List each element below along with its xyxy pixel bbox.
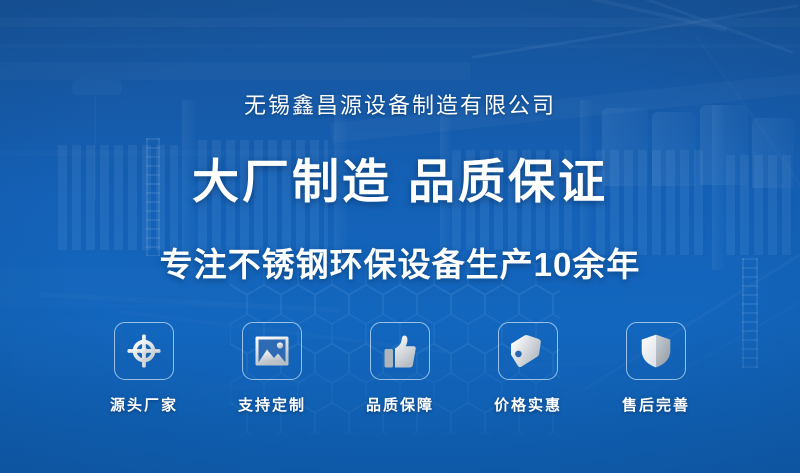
feature-label: 价格实惠	[494, 394, 562, 415]
icon-box	[370, 322, 430, 380]
shield-icon	[641, 334, 671, 368]
headline: 大厂制造 品质保证	[192, 143, 608, 212]
feature-item-after-sales[interactable]: 售后完善	[610, 322, 702, 415]
feature-item-source-factory[interactable]: 源头厂家	[98, 322, 190, 415]
feature-item-affordable-price[interactable]: 价格实惠	[482, 322, 574, 415]
icon-box	[498, 322, 558, 380]
feature-label: 品质保障	[366, 394, 434, 415]
feature-item-custom-support[interactable]: 支持定制	[226, 322, 318, 415]
icon-box	[242, 322, 302, 380]
icon-box	[114, 322, 174, 380]
feature-label: 支持定制	[238, 394, 306, 415]
subheadline: 专注不锈钢环保设备生产10余年	[160, 238, 641, 286]
feature-label: 源头厂家	[110, 394, 178, 415]
feature-label: 售后完善	[622, 394, 690, 415]
thumbs-up-icon	[384, 335, 416, 368]
banner-content: 无锡鑫昌源设备制造有限公司 大厂制造 品质保证 专注不锈钢环保设备生产10余年	[0, 0, 800, 473]
price-tag-icon	[511, 335, 545, 367]
crosshair-target-icon	[127, 334, 161, 368]
promo-banner: 无锡鑫昌源设备制造有限公司 大厂制造 品质保证 专注不锈钢环保设备生产10余年	[0, 0, 800, 473]
feature-list: 源头厂家	[98, 322, 702, 415]
icon-box	[626, 322, 686, 380]
feature-item-quality-guarantee[interactable]: 品质保障	[354, 322, 446, 415]
image-picture-icon	[255, 336, 289, 366]
company-name: 无锡鑫昌源设备制造有限公司	[244, 88, 556, 120]
